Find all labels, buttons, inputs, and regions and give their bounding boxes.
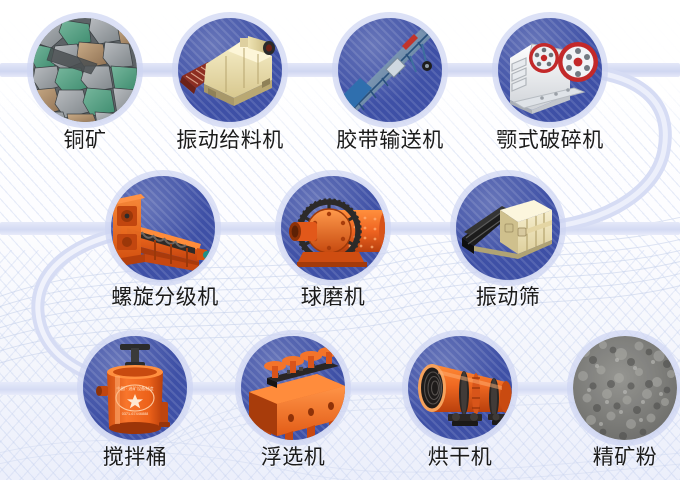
agitation-tank-circle: 中国 · 选矿设备制造 0371-67446888	[83, 336, 187, 440]
jaw-crusher-circle	[498, 18, 602, 122]
copper-ore-photo-icon	[33, 18, 137, 122]
svg-text:0371-67446888: 0371-67446888	[122, 412, 149, 416]
node-label-copper-ore: 铜矿	[18, 128, 152, 152]
node-label-concentrate-powder: 精矿粉	[575, 445, 675, 469]
copper-ore-circle	[33, 18, 137, 122]
flotation-cell-icon	[241, 336, 345, 440]
node-label-spiral-classifier: 螺旋分级机	[95, 285, 235, 309]
vibrating-feeder-circle	[178, 18, 282, 122]
spiral-classifier-icon	[111, 176, 215, 280]
concentrate-powder-circle	[573, 336, 677, 440]
belt-conveyor-circle	[338, 18, 442, 122]
node-label-ball-mill: 球磨机	[283, 285, 383, 309]
process-flow-diagram: 铜矿	[0, 0, 680, 480]
spiral-classifier-circle	[111, 176, 215, 280]
vibrating-feeder-icon	[178, 18, 282, 122]
vibrating-screen-circle	[456, 176, 560, 280]
jaw-crusher-icon	[498, 18, 602, 122]
node-label-agitation-tank: 搅拌桶	[85, 445, 185, 469]
node-label-rotary-dryer: 烘干机	[410, 445, 510, 469]
ball-mill-icon	[281, 176, 385, 280]
node-label-belt-conveyor: 胶带输送机	[310, 128, 470, 152]
ball-mill-circle	[281, 176, 385, 280]
node-label-jaw-crusher: 颚式破碎机	[470, 128, 630, 152]
rotary-dryer-circle	[408, 336, 512, 440]
vibrating-screen-icon	[456, 176, 560, 280]
rotary-dryer-icon	[408, 336, 512, 440]
node-label-flotation-cell: 浮选机	[243, 445, 343, 469]
node-label-vibrating-screen: 振动筛	[458, 285, 558, 309]
agitation-tank-icon: 中国 · 选矿设备制造 0371-67446888	[83, 336, 187, 440]
node-label-vibrating-feeder: 振动给料机	[150, 128, 310, 152]
concentrate-powder-photo-icon	[573, 336, 677, 440]
svg-text:中国 · 选矿设备制造: 中国 · 选矿设备制造	[116, 385, 154, 392]
belt-conveyor-icon	[338, 18, 442, 122]
flotation-cell-circle	[241, 336, 345, 440]
